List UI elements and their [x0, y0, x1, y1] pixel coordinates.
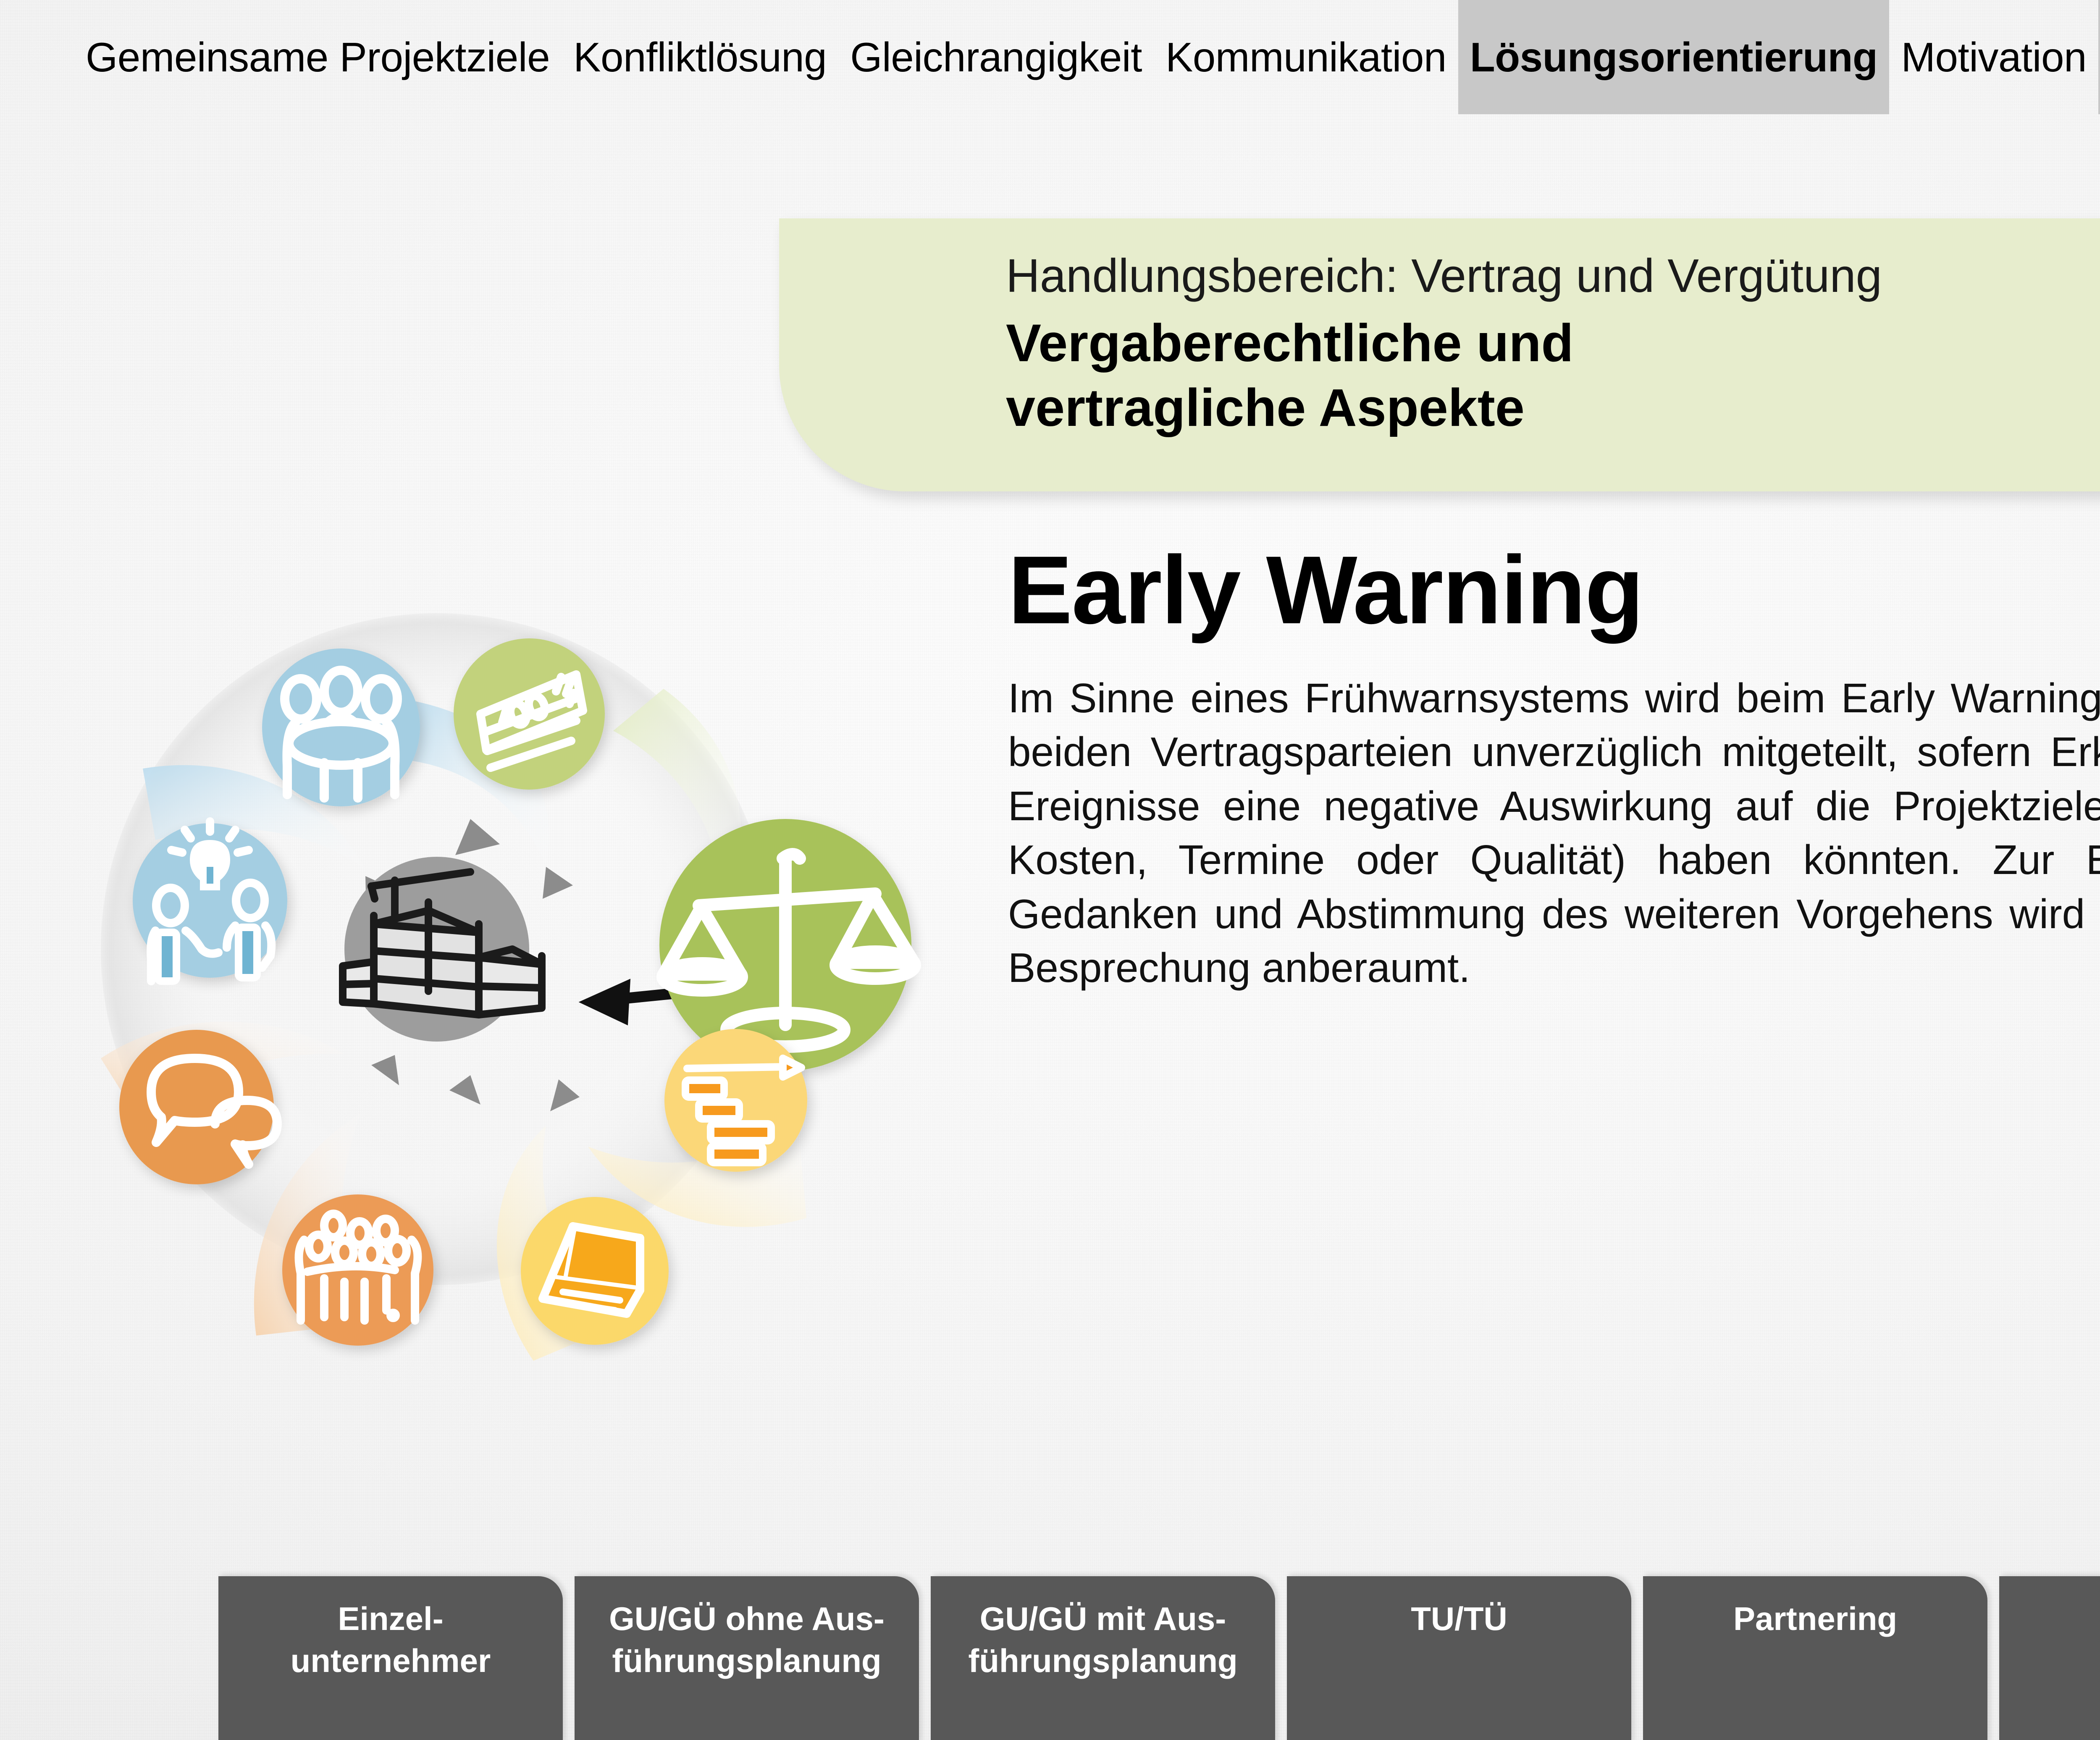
- nav-item-kommunikation[interactable]: Kommunikation: [1154, 0, 1458, 114]
- bottom-tab-bar: Einzel- unternehmer GU/GÜ ohne Aus- führ…: [0, 1564, 2100, 1740]
- tab-partnering[interactable]: Partnering: [1643, 1576, 1987, 1740]
- main-content: Early Warning Im Sinne eines Frühwarnsys…: [1008, 542, 2100, 995]
- diagram-node-verguetung[interactable]: [454, 638, 605, 790]
- top-navigation: Gemeinsame Projektziele Konfliktlösung G…: [0, 0, 2100, 114]
- diagram-node-vertrag-und-verguetung[interactable]: [659, 819, 915, 1071]
- tab-gu-gue-mit-ausfuehrungsplanung[interactable]: GU/GÜ mit Aus- führungsplanung: [931, 1576, 1275, 1740]
- page-title: Early Warning: [1008, 542, 2100, 638]
- body-paragraph: Im Sinne eines Frühwarnsystems wird beim…: [1008, 671, 2100, 995]
- handlungsbereich-kicker: Handlungsbereich: Vertrag und Vergütung: [1006, 249, 1882, 303]
- nav-item-gemeinsame-projektziele[interactable]: Gemeinsame Projektziele: [74, 0, 562, 114]
- section-title: Vergaberechtliche und vertragliche Aspek…: [1006, 311, 1573, 440]
- tab-einzelunternehmer[interactable]: Einzel- unternehmer: [218, 1576, 563, 1740]
- section-header-panel: Handlungsbereich: Vertrag und Vergütung …: [779, 218, 2100, 491]
- tab-tu-tue[interactable]: TU/TÜ: [1287, 1576, 1631, 1740]
- nav-item-motivation[interactable]: Motivation: [1889, 0, 2098, 114]
- nav-item-loesungsorientierung[interactable]: Lösungsorientierung: [1458, 0, 1890, 114]
- diagram-node-digitalisierung[interactable]: [521, 1197, 669, 1345]
- tab-gu-gue-ohne-ausfuehrungsplanung[interactable]: GU/GÜ ohne Aus- führungsplanung: [575, 1576, 919, 1740]
- nav-item-transparenz[interactable]: Transparenz: [2098, 0, 2100, 114]
- diagram-node-beteiligte[interactable]: [282, 1194, 433, 1346]
- diagram-node-besprechung[interactable]: [262, 648, 420, 806]
- nav-item-gleichrangigkeit[interactable]: Gleichrangigkeit: [838, 0, 1154, 114]
- diagram-node-termine[interactable]: [664, 1029, 807, 1172]
- tab-ipa[interactable]: IPA: [1999, 1576, 2100, 1740]
- nav-item-konfliktloesung[interactable]: Konfliktlösung: [562, 0, 838, 114]
- project-wheel-diagram: [76, 554, 966, 1378]
